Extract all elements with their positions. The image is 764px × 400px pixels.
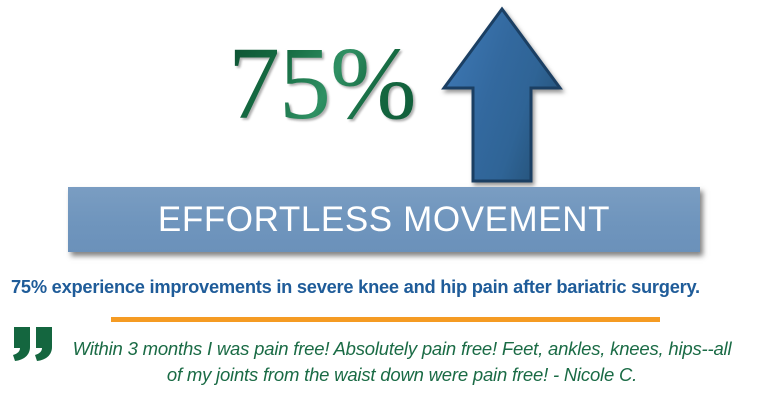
testimonial-quote: Within 3 months I was pain free! Absolut… (52, 336, 752, 388)
banner: EFFORTLESS MOVEMENT (68, 187, 700, 252)
hero-section: 75% (0, 0, 764, 187)
testimonial-quote-line-1: Within 3 months I was pain free! Absolut… (52, 336, 752, 362)
left-double-quote-icon (12, 327, 56, 361)
subtitle-text: 75% experience improvements in severe kn… (11, 276, 755, 298)
orange-divider (111, 317, 660, 322)
up-arrow-icon (441, 6, 563, 184)
testimonial-quote-line-2: of my joints from the waist down were pa… (52, 362, 752, 388)
stat-number: 75% (228, 24, 468, 144)
banner-label: EFFORTLESS MOVEMENT (158, 202, 610, 237)
infographic-canvas: 75% EFFORTLESS MOVEMENT 75% experience (0, 0, 764, 400)
